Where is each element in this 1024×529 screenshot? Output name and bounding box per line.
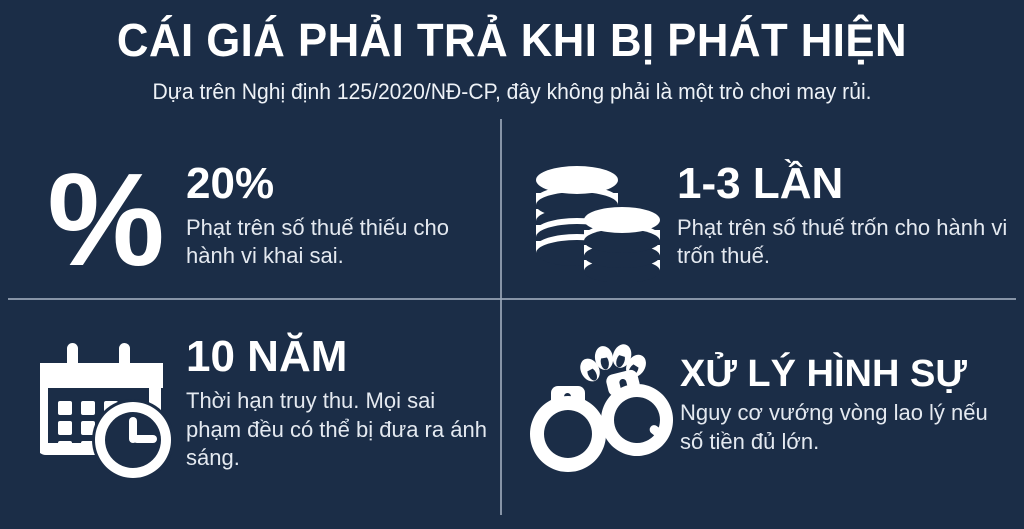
page-title: CÁI GIÁ PHẢI TRẢ KHI BỊ PHÁT HIỆN	[26, 16, 999, 65]
stat-description: Phạt trên số thuế trốn cho hành vi trốn …	[677, 214, 1014, 271]
coin-stack-icon	[519, 150, 677, 290]
stat-card-handcuffs: XỬ LÝ HÌNH SỰ Nguy cơ vướng vòng lao lý …	[501, 323, 1024, 529]
stat-description: Thời hạn truy thu. Mọi sai phạm đều có t…	[186, 387, 491, 473]
percent-icon: %	[26, 150, 186, 290]
stat-card-percent: % 20% Phạt trên số thuế thiếu cho hành v…	[0, 117, 501, 323]
infographic-root: CÁI GIÁ PHẢI TRẢ KHI BỊ PHÁT HIỆN Dựa tr…	[0, 0, 1024, 529]
calendar-clock-icon	[26, 337, 186, 482]
vertical-divider	[500, 119, 502, 515]
percent-glyph: %	[47, 154, 164, 286]
stat-text-block: XỬ LÝ HÌNH SỰ Nguy cơ vướng vòng lao lý …	[680, 355, 1014, 456]
stat-text-block: 1-3 LẦN Phạt trên số thuế trốn cho hành …	[677, 162, 1014, 271]
stat-text-block: 10 NĂM Thời hạn truy thu. Mọi sai phạm đ…	[186, 335, 491, 473]
page-subtitle: Dựa trên Nghị định 125/2020/NĐ-CP, đây k…	[20, 79, 1003, 105]
stat-text-block: 20% Phạt trên số thuế thiếu cho hành vi …	[186, 162, 491, 271]
header: CÁI GIÁ PHẢI TRẢ KHI BỊ PHÁT HIỆN Dựa tr…	[0, 0, 1024, 105]
handcuffs-icon	[515, 337, 680, 482]
stat-value: 10 NĂM	[186, 335, 491, 379]
stat-value: 1-3 LẦN	[677, 162, 1014, 206]
stats-grid: % 20% Phạt trên số thuế thiếu cho hành v…	[0, 117, 1024, 529]
horizontal-divider	[8, 298, 1016, 300]
stat-description: Nguy cơ vướng vòng lao lý nếu số tiền đủ…	[680, 399, 1014, 456]
stat-value: XỬ LÝ HÌNH SỰ	[680, 355, 1014, 393]
stat-card-calendar: 10 NĂM Thời hạn truy thu. Mọi sai phạm đ…	[0, 323, 501, 529]
stat-value: 20%	[186, 162, 491, 206]
stat-card-coins: 1-3 LẦN Phạt trên số thuế trốn cho hành …	[501, 117, 1024, 323]
stat-description: Phạt trên số thuế thiếu cho hành vi khai…	[186, 214, 491, 271]
